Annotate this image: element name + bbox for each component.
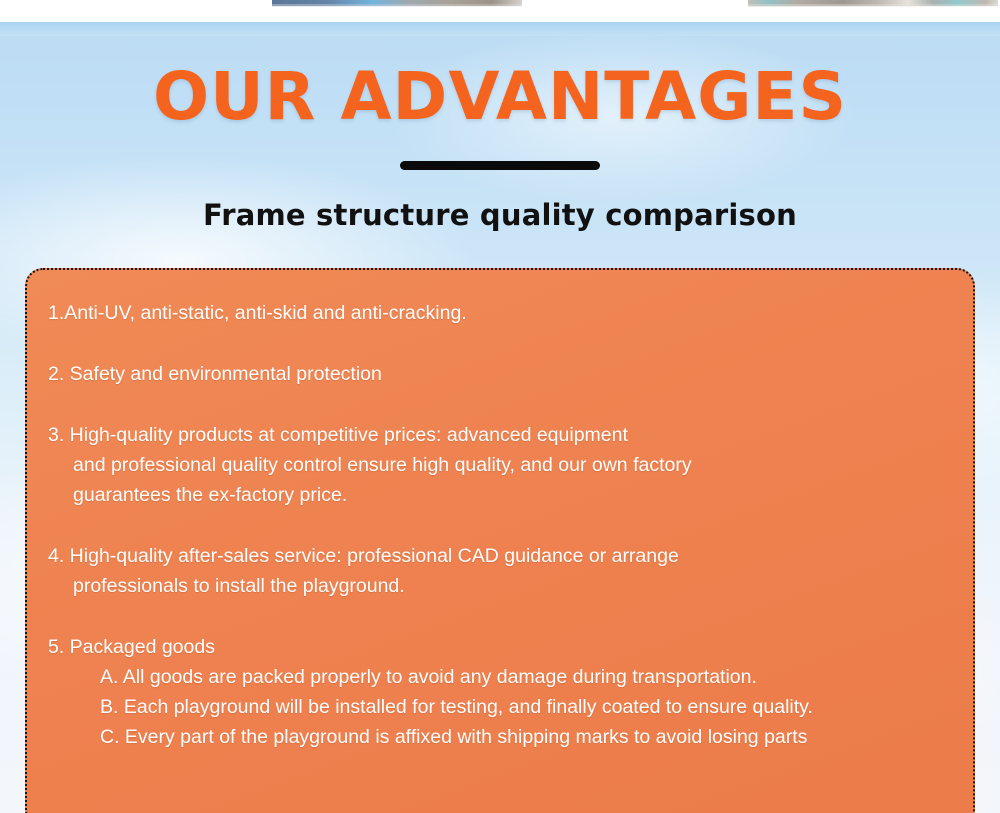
list-item: C. Every part of the playground is affix… xyxy=(48,722,933,752)
list-item: 1.Anti-UV, anti-static, anti-skid and an… xyxy=(48,298,933,328)
list-item: 2. Safety and environmental protection xyxy=(48,359,933,389)
sky-top-band xyxy=(0,22,1000,36)
list-item: 3. High-quality products at competitive … xyxy=(48,420,933,510)
list-item: B. Each playground will be installed for… xyxy=(48,692,933,722)
advantages-list: 1.Anti-UV, anti-static, anti-skid and an… xyxy=(48,298,933,662)
list-item: A. All goods are packed properly to avoi… xyxy=(48,662,933,692)
title-divider xyxy=(400,161,600,170)
image-remnant-right xyxy=(748,0,998,6)
image-remnant-left xyxy=(272,0,522,6)
advantages-panel: 1.Anti-UV, anti-static, anti-skid and an… xyxy=(25,268,975,813)
page-header: OUR ADVANTAGES Frame structure quality c… xyxy=(0,36,1000,232)
page-subtitle: Frame structure quality comparison xyxy=(0,200,1000,232)
list-item: 5. Packaged goods xyxy=(48,632,933,662)
list-item: 4. High-quality after-sales service: pro… xyxy=(48,541,933,601)
page-title: OUR ADVANTAGES xyxy=(0,36,1000,130)
advantages-page: OUR ADVANTAGES Frame structure quality c… xyxy=(0,0,1000,813)
advantages-sub-list: A. All goods are packed properly to avoi… xyxy=(48,662,933,752)
